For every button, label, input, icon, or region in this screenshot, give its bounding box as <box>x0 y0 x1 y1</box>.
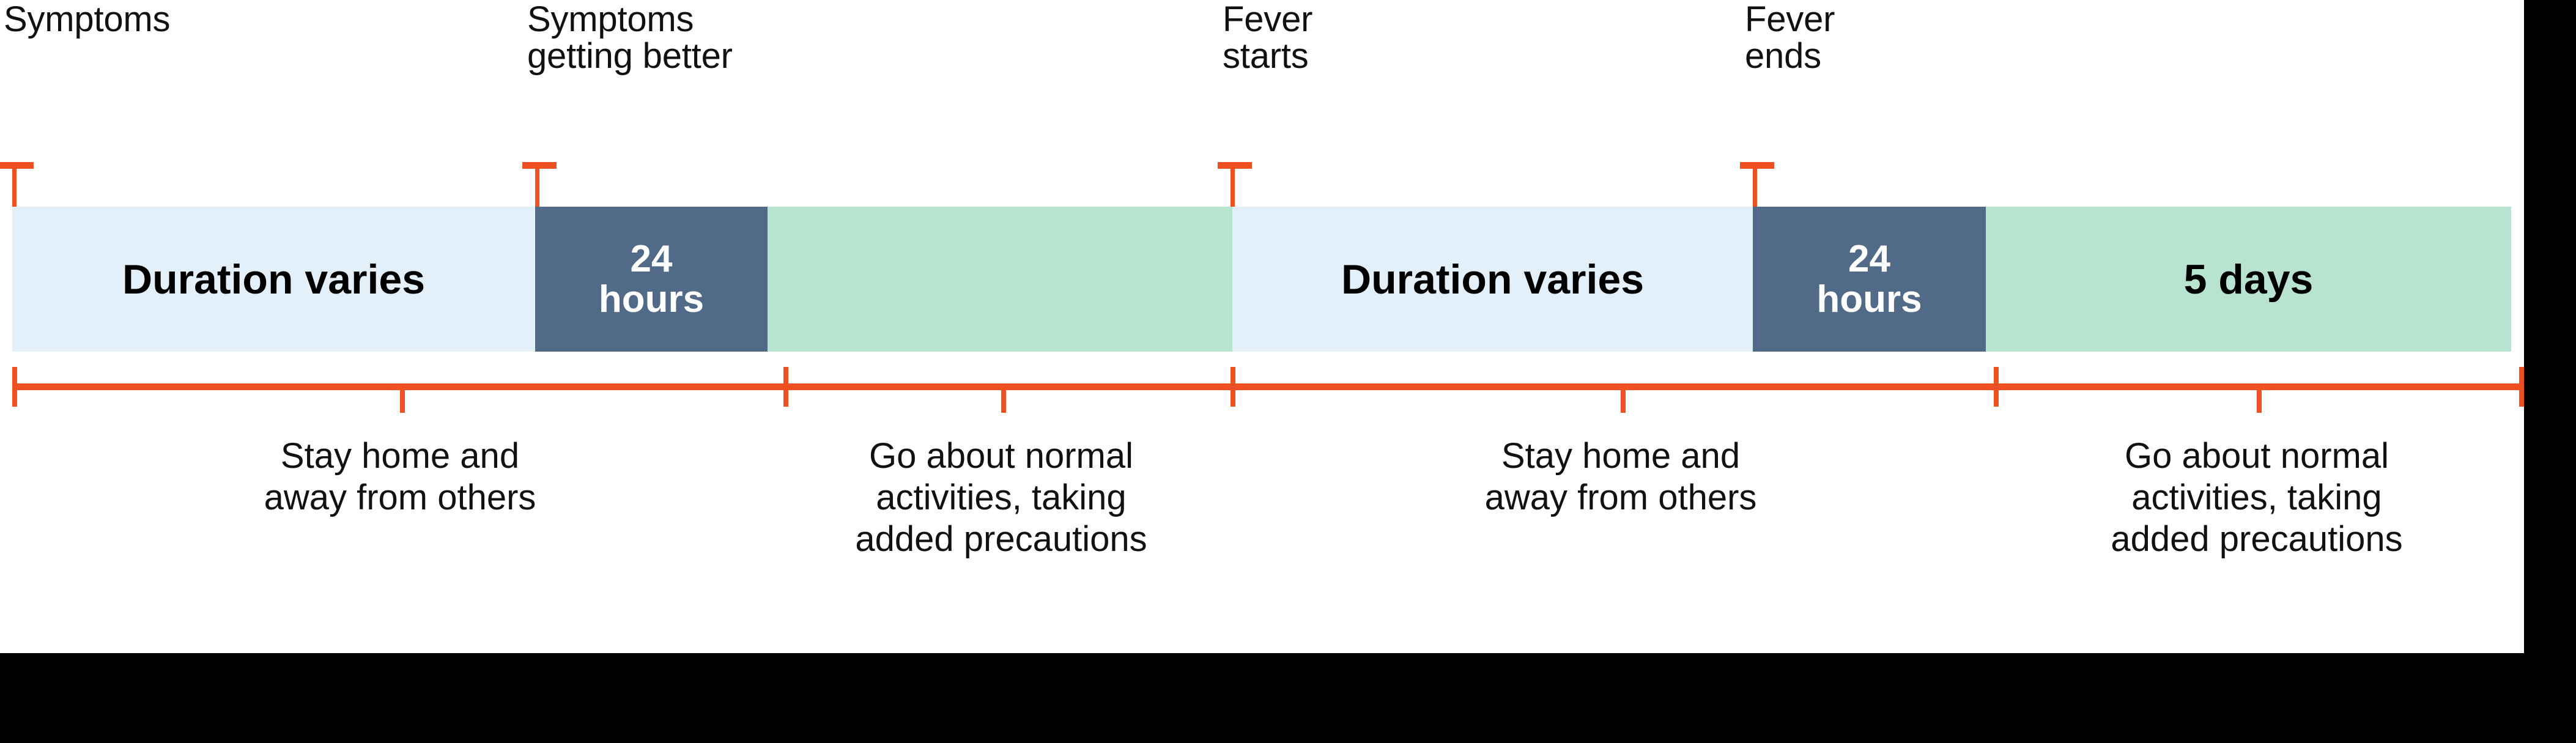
axis-boundary-tick-2 <box>1231 367 1235 407</box>
axis-boundary-tick-4 <box>2519 367 2524 407</box>
event-label-symptoms-start: Symptoms <box>4 1 170 38</box>
bar-segment-label: 24 hours <box>1816 239 1922 320</box>
event-label-fever-ends: Fever ends <box>1745 1 1835 75</box>
advice-label-stay-home-1: Stay home and away from others <box>264 435 536 519</box>
axis-boundary-tick-0 <box>12 367 17 407</box>
event-label-fever-starts: Fever starts <box>1223 1 1312 75</box>
bar-segment-24-hours-2: 24 hours <box>1753 207 1986 352</box>
bottom-axis-line <box>12 383 2523 390</box>
timeline-diagram: Symptoms Symptoms getting better Fever s… <box>0 0 2576 743</box>
frame-band-bottom <box>0 653 2576 743</box>
advice-label-normal-activities-2: Go about normal activities, taking added… <box>2111 435 2402 560</box>
advice-label-normal-activities-1: Go about normal activities, taking added… <box>855 435 1147 560</box>
event-label-symptoms-getting-better: Symptoms getting better <box>527 1 733 75</box>
axis-center-tick-1 <box>1001 383 1006 413</box>
axis-center-tick-2 <box>1621 383 1626 413</box>
bar-segment-label: 24 hours <box>599 239 704 320</box>
bar-segment-duration-varies-2: Duration varies <box>1232 207 1753 352</box>
axis-center-tick-0 <box>400 383 405 413</box>
bar-segment-duration-varies-1: Duration varies <box>12 207 535 352</box>
axis-boundary-tick-3 <box>1994 367 1999 407</box>
bar-segment-24-hours-1: 24 hours <box>535 207 768 352</box>
bar-segment-label: Duration varies <box>1341 257 1644 301</box>
axis-boundary-tick-1 <box>783 367 788 407</box>
bar-segment-label: Duration varies <box>122 257 425 301</box>
frame-band-right <box>2524 0 2576 743</box>
axis-center-tick-3 <box>2257 383 2262 413</box>
bar-segment-label: 5 days <box>2184 257 2314 301</box>
bar-segment-5-days: 5 days <box>1986 207 2511 352</box>
timeline-bar: Duration varies 24 hours Duration varies… <box>12 207 2511 352</box>
advice-label-stay-home-2: Stay home and away from others <box>1485 435 1757 519</box>
bar-segment-green-1 <box>768 207 1232 352</box>
